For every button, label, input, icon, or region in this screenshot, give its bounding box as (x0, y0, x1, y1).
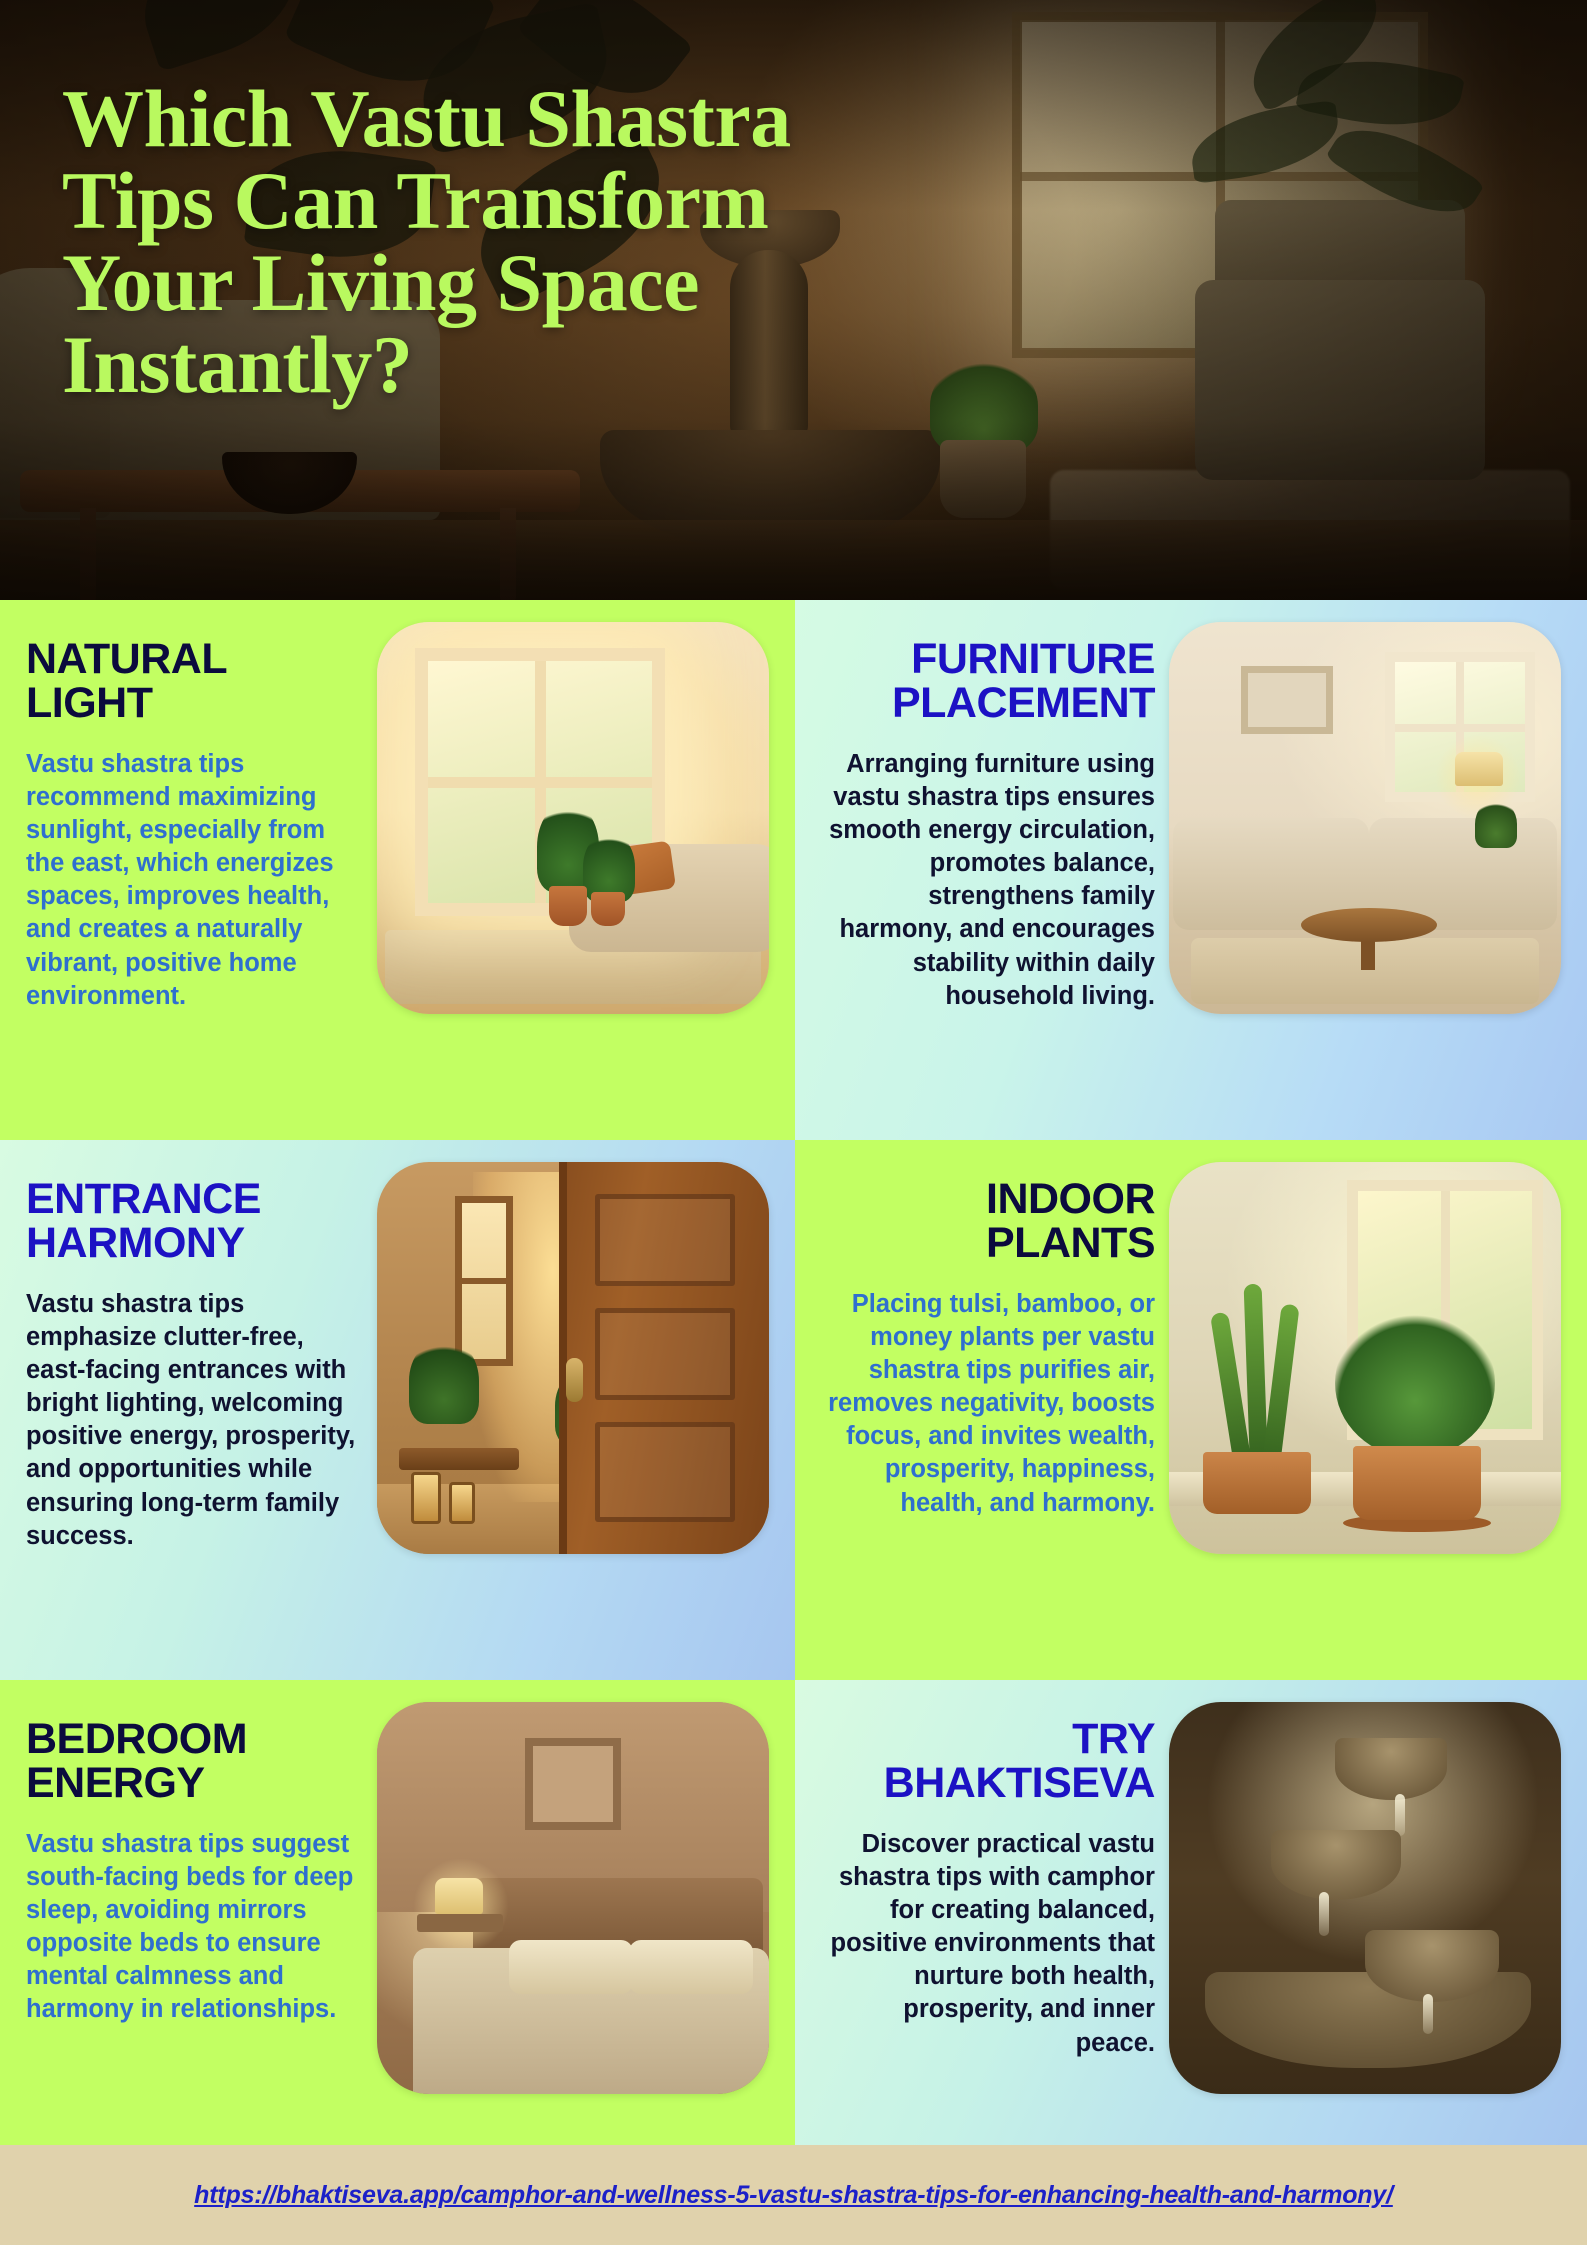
card-try-bhaktiseva[interactable]: TRY BHAKTISEVA Discover practical vastu … (795, 1680, 1587, 2145)
hero-title: Which Vastu Shastra Tips Can Transform Y… (62, 78, 1062, 406)
card-body-bedroom-energy: Vastu shastra tips suggest south-facing … (26, 1828, 363, 2027)
card-title-natural-light: NATURAL LIGHT (26, 638, 363, 726)
potted-plants-windowsill-photo (1169, 1162, 1561, 1554)
card-title-try-bhaktiseva: TRY BHAKTISEVA (821, 1718, 1155, 1806)
card-body-try-bhaktiseva: Discover practical vastu shastra tips wi… (821, 1828, 1155, 2060)
card-title-furniture-placement: FURNITURE PLACEMENT (821, 638, 1155, 726)
card-natural-light[interactable]: NATURAL LIGHT Vastu shastra tips recomme… (0, 600, 795, 1140)
article-url-link[interactable]: https://bhaktiseva.app/camphor-and-welln… (194, 2181, 1393, 2210)
beige-living-room-sofas-photo (1169, 622, 1561, 1014)
card-bedroom-energy[interactable]: BEDROOM ENERGY Vastu shastra tips sugges… (0, 1680, 795, 2145)
card-body-indoor-plants: Placing tulsi, bamboo, or money plants p… (821, 1288, 1155, 1520)
card-body-natural-light: Vastu shastra tips recommend maximizing … (26, 748, 363, 1013)
card-body-entrance-harmony: Vastu shastra tips emphasize clutter-fre… (26, 1288, 363, 1553)
card-title-indoor-plants: INDOOR PLANTS (821, 1178, 1155, 1266)
sunlit-window-living-room-photo (377, 622, 769, 1014)
card-body-furniture-placement: Arranging furniture using vastu shastra … (821, 748, 1155, 1013)
warm-lit-bedroom-photo (377, 1702, 769, 2094)
card-title-entrance-harmony: ENTRANCE HARMONY (26, 1178, 363, 1266)
footer-bar: https://bhaktiseva.app/camphor-and-welln… (0, 2145, 1587, 2245)
hero-banner: Which Vastu Shastra Tips Can Transform Y… (0, 0, 1587, 600)
infographic-page: Which Vastu Shastra Tips Can Transform Y… (0, 0, 1587, 2245)
card-furniture-placement[interactable]: FURNITURE PLACEMENT Arranging furniture … (795, 600, 1587, 1140)
stone-tiered-water-fountain-photo (1169, 1702, 1561, 2094)
card-title-bedroom-energy: BEDROOM ENERGY (26, 1718, 363, 1806)
card-entrance-harmony[interactable]: ENTRANCE HARMONY Vastu shastra tips emph… (0, 1140, 795, 1680)
wooden-front-door-entrance-photo (377, 1162, 769, 1554)
card-indoor-plants[interactable]: INDOOR PLANTS Placing tulsi, bamboo, or … (795, 1140, 1587, 1680)
tips-grid: NATURAL LIGHT Vastu shastra tips recomme… (0, 600, 1587, 2145)
